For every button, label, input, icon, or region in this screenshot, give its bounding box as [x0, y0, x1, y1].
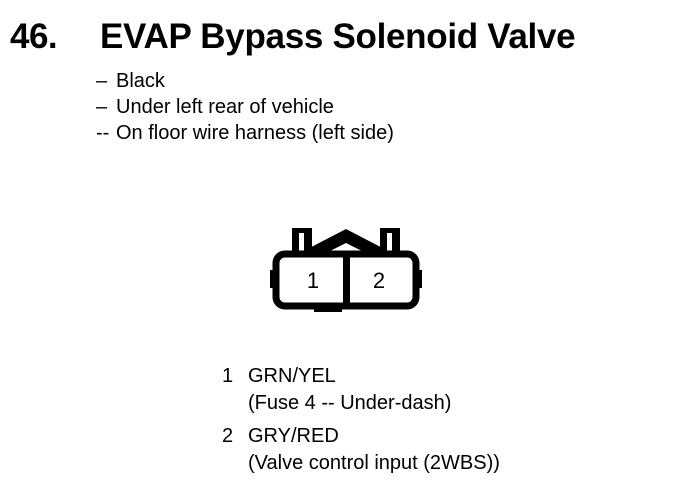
dash-marker: --: [96, 120, 116, 146]
page-heading: 46. EVAP Bypass Solenoid Valve: [0, 16, 688, 60]
pin-index: 2: [222, 423, 248, 450]
pin-main-row: 2GRY/RED: [222, 423, 642, 450]
pin-index: 1: [222, 363, 248, 390]
cavity-number-2: 2: [373, 268, 385, 293]
page-title: EVAP Bypass Solenoid Valve: [100, 16, 575, 58]
right-top-tab-slot: [387, 233, 392, 252]
pin-entry: 2GRY/RED (Valve control input (2WBS)): [222, 423, 642, 477]
pin-entry: 1GRN/YEL (Fuse 4 -- Under-dash): [222, 363, 642, 417]
pin-wire-color: GRN/YEL: [248, 363, 336, 390]
left-top-tab-slot: [299, 233, 304, 252]
pin-wire-color: GRY/RED: [248, 423, 339, 450]
notes-list: –Black –Under left rear of vehicle --On …: [96, 68, 556, 146]
pin-description: (Fuse 4 -- Under-dash): [222, 390, 642, 417]
cavity-number-1: 1: [307, 268, 319, 293]
pin-description: (Valve control input (2WBS)): [222, 450, 642, 477]
cavity-divider: [343, 255, 350, 305]
connector-illustration: 1 2: [262, 222, 430, 318]
list-item: –Black: [96, 68, 556, 94]
connector-diagram: 1 2: [262, 222, 430, 318]
list-item-label: Under left rear of vehicle: [116, 94, 334, 120]
list-item: --On floor wire harness (left side): [96, 120, 556, 146]
list-item: –Under left rear of vehicle: [96, 94, 556, 120]
item-number: 46.: [10, 16, 57, 58]
pin-legend: 1GRN/YEL (Fuse 4 -- Under-dash) 2GRY/RED…: [222, 363, 642, 483]
dash-marker: –: [96, 94, 116, 120]
diagram-page: 46. EVAP Bypass Solenoid Valve –Black –U…: [0, 0, 688, 488]
dash-marker: –: [96, 68, 116, 94]
list-item-label: Black: [116, 68, 165, 94]
list-item-label: On floor wire harness (left side): [116, 120, 394, 146]
pin-main-row: 1GRN/YEL: [222, 363, 642, 390]
